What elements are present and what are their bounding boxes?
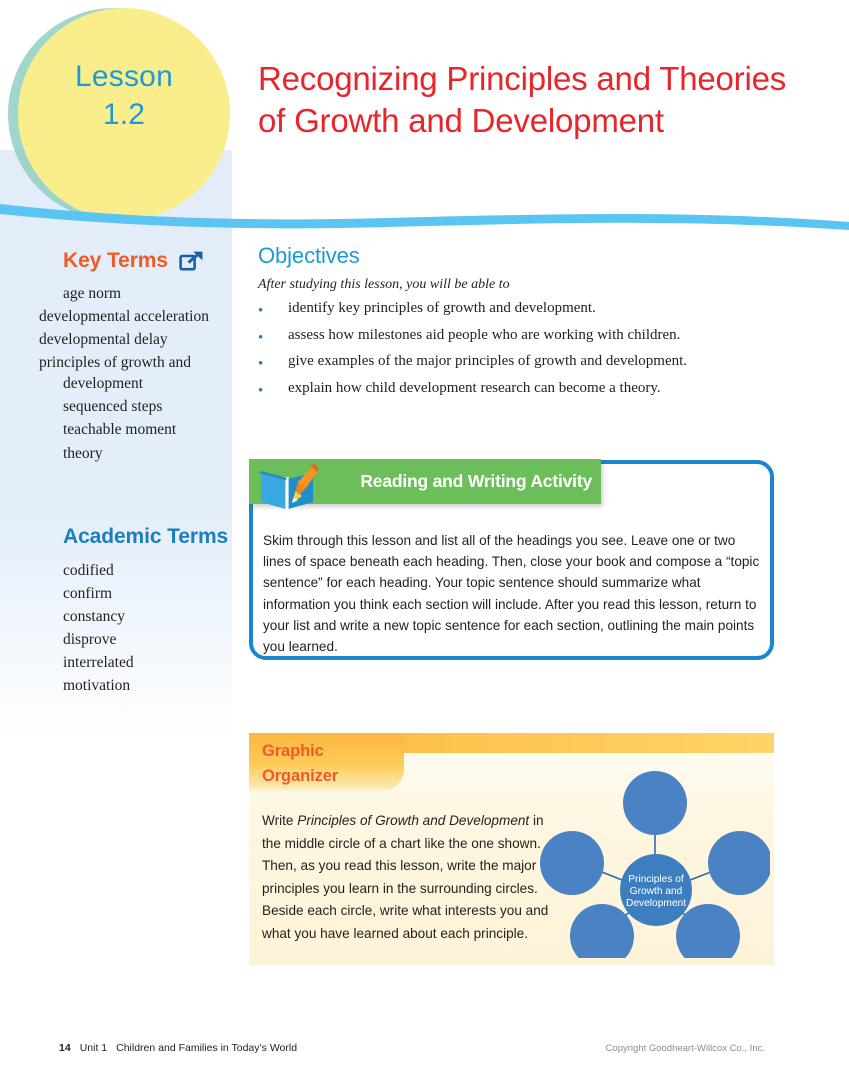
blue-wave-divider [0,188,849,234]
graphic-organizer-body: Write Principles of Growth and Developme… [262,810,552,945]
svg-text:Growth and: Growth and [630,886,683,897]
graphic-organizer-title-line1: Graphic [262,739,338,764]
book-and-pencil-icon [257,461,321,515]
footer-left: 14 Unit 1 Children and Families in Today… [59,1042,297,1054]
term-item: confirm [49,583,233,604]
objective-item: •assess how milestones aid people who ar… [258,327,818,346]
satellite-circle-bottom-left [570,904,634,958]
key-terms-heading: Key Terms [63,249,204,273]
term-item: disprove [49,629,233,650]
copyright-notice: Copyright Goodheart-Willcox Co., Inc. [606,1043,765,1054]
term-item: motivation [49,675,233,696]
graphic-organizer-title-line2: Organizer [262,764,338,789]
textbook-page: Lesson 1.2 Recognizing Principles and Th… [0,0,849,1087]
term-item: age norm [49,283,233,304]
objectives-list: •identify key principles of growth and d… [258,300,818,406]
objective-item: •give examples of the major principles o… [258,353,818,372]
key-terms-label: Key Terms [63,249,168,273]
page-number: 14 [59,1042,71,1054]
term-item: developmental delay [39,329,233,350]
svg-text:Development: Development [626,898,686,909]
objective-item: •identify key principles of growth and d… [258,300,818,319]
key-terms-list: age normdevelopmental accelerationdevelo… [63,283,233,466]
graphic-organizer-emphasis: Principles of Growth and Development [297,813,529,828]
objective-text: assess how milestones aid people who are… [288,327,680,344]
objectives-intro: After studying this lesson, you will be … [258,277,510,293]
footer-unit: Unit 1 [80,1042,107,1054]
term-item: sequenced steps [49,396,233,417]
satellite-circle-bottom-right [676,904,740,958]
graphic-organizer-title: Graphic Organizer [262,739,338,789]
objective-text: identify key principles of growth and de… [288,300,596,317]
objective-text: give examples of the major principles of… [288,353,687,370]
term-item: constancy [49,606,233,627]
satellite-circle-top [623,771,687,835]
satellite-circle-right [708,831,770,895]
objective-item: •explain how child development research … [258,380,818,399]
reading-writing-activity-body: Skim through this lesson and list all of… [263,530,760,657]
objective-text: explain how child development research c… [288,380,661,397]
share-external-link-icon[interactable] [179,251,204,271]
svg-text:Principles of: Principles of [628,874,684,885]
graphic-organizer-diagram: Principles of Growth and Development [540,768,770,958]
academic-terms-list: codifiedconfirmconstancydisproveinterrel… [63,560,233,698]
term-item: developmental acceleration [39,306,233,327]
bullet-icon: • [258,380,288,399]
term-item: codified [49,560,233,581]
bullet-icon: • [258,353,288,372]
lesson-number: 1.2 [18,96,230,134]
lesson-word: Lesson [18,58,230,96]
term-item: interrelated [49,652,233,673]
bullet-icon: • [258,327,288,346]
bullet-icon: • [258,300,288,319]
lesson-badge-label: Lesson 1.2 [18,58,230,135]
page-title: Recognizing Principles and Theories of G… [258,58,818,142]
academic-terms-heading: Academic Terms [63,525,228,549]
term-item: theory [49,443,233,464]
satellite-circle-left [540,831,604,895]
objectives-heading: Objectives [258,243,360,269]
page-footer: 14 Unit 1 Children and Families in Today… [0,1042,849,1062]
term-item: principles of growth and development [39,352,233,394]
footer-unit-title: Children and Families in Today’s World [116,1042,297,1054]
term-item: teachable moment [49,419,233,440]
